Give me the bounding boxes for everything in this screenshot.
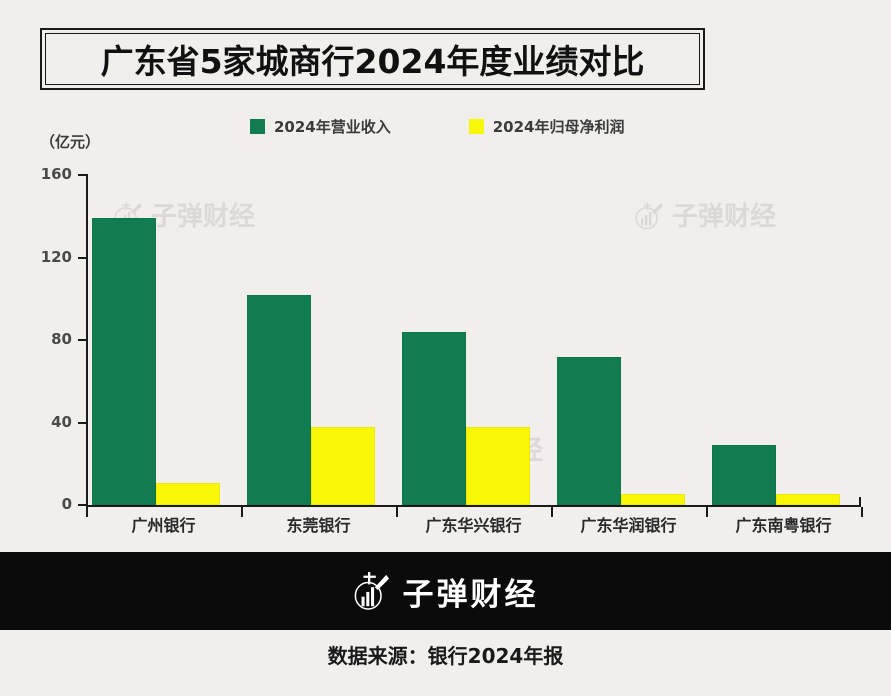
y-axis-tick-label: 40 <box>20 413 72 431</box>
bar-net-profit <box>466 427 530 505</box>
bar-net-profit <box>621 494 685 505</box>
bar-revenue <box>712 445 776 505</box>
x-axis-category-label: 广东华兴银行 <box>425 512 521 536</box>
bar-revenue <box>92 218 156 505</box>
bar-net-profit <box>776 494 840 505</box>
legend-label-revenue: 2024年营业收入 <box>274 116 391 137</box>
x-axis-line <box>86 505 861 507</box>
legend-label-net-profit: 2024年归母净利润 <box>493 116 625 137</box>
footer-brand-bar: 子弹财经 <box>0 552 891 630</box>
x-axis-category-label: 广东华润银行 <box>580 512 676 536</box>
data-source-note: 数据来源：银行2024年报 <box>0 640 891 669</box>
x-axis-end-tick <box>86 507 88 517</box>
x-axis-separator <box>241 507 243 517</box>
legend-swatch-yellow-icon <box>469 119 484 134</box>
x-axis-end-tick <box>861 507 863 517</box>
legend-swatch-green-icon <box>250 119 265 134</box>
x-axis-separator <box>396 507 398 517</box>
page-title: 广东省5家城商行2024年度业绩对比 <box>101 35 645 83</box>
x-axis-category-label: 广州银行 <box>131 512 195 536</box>
x-axis-category-label: 广东南粤银行 <box>735 512 831 536</box>
chart-page: 广东省5家城商行2024年度业绩对比 2024年营业收入 2024年归母净利润 … <box>0 0 891 696</box>
y-axis-unit-label: （亿元） <box>40 131 100 152</box>
legend-item-net-profit: 2024年归母净利润 <box>469 116 625 137</box>
x-axis-category-label: 东莞银行 <box>286 512 350 536</box>
y-axis-tick-label: 80 <box>20 330 72 348</box>
legend-item-revenue: 2024年营业收入 <box>250 116 391 137</box>
bar-revenue <box>247 295 311 505</box>
footer-brand-rocket-chart-icon <box>353 570 391 612</box>
footer-brand-text: 子弹财经 <box>403 569 539 614</box>
chart-plot-area <box>86 175 861 505</box>
bar-net-profit <box>156 483 220 505</box>
chart-title-inner-border: 广东省5家城商行2024年度业绩对比 <box>45 33 700 85</box>
y-axis-tick-label: 160 <box>20 165 72 183</box>
x-axis-separator <box>551 507 553 517</box>
chart-legend: 2024年营业收入 2024年归母净利润 <box>250 116 625 137</box>
y-axis-tick-label: 0 <box>20 495 72 513</box>
bar-revenue <box>402 332 466 505</box>
y-axis-tick-label: 120 <box>20 248 72 266</box>
x-axis-separator <box>706 507 708 517</box>
bar-net-profit <box>311 427 375 505</box>
chart-title-box: 广东省5家城商行2024年度业绩对比 <box>40 28 705 90</box>
bar-revenue <box>557 357 621 506</box>
